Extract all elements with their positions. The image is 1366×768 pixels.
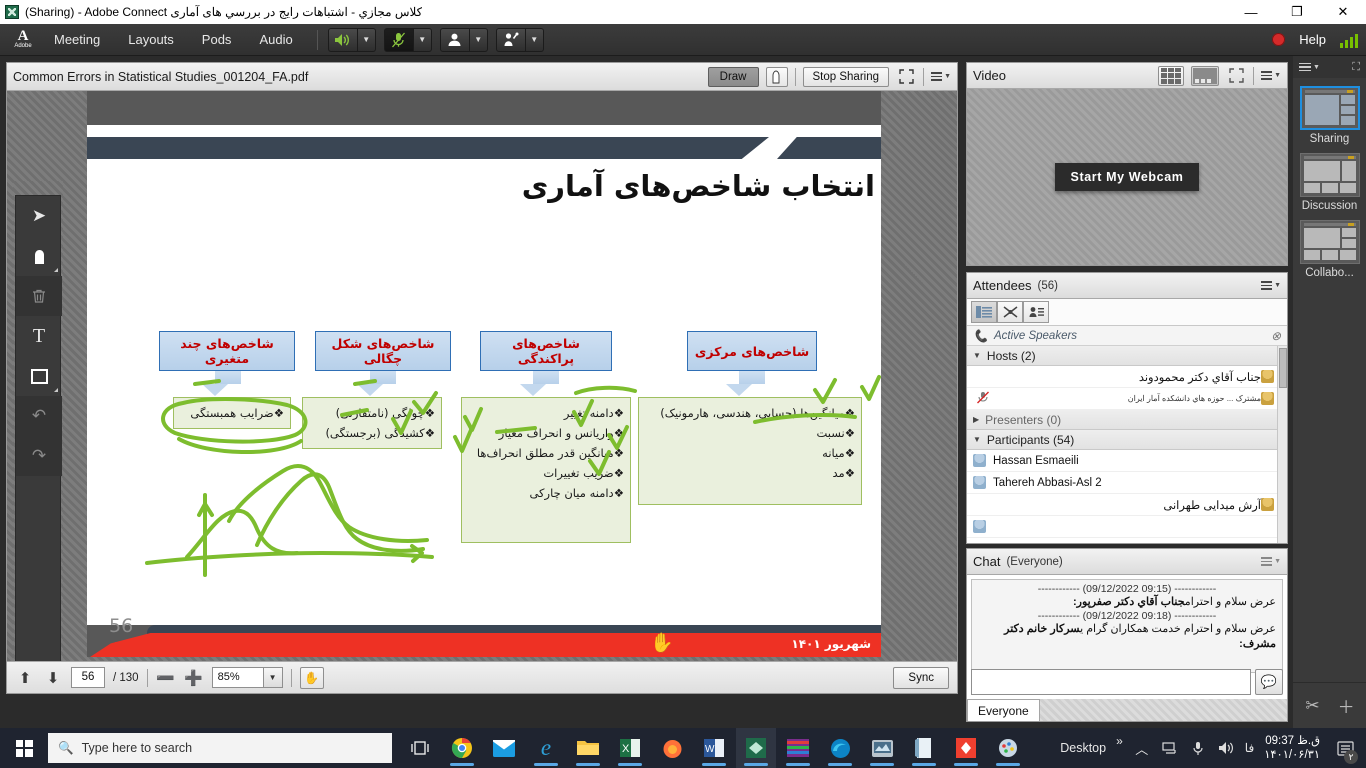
pan-cursor-icon: ✋ [650, 631, 674, 655]
thumb-bottom-row [1304, 183, 1356, 193]
svg-text:W: W [705, 744, 715, 755]
chat-input-row: 💬 [971, 669, 1283, 695]
person-icon[interactable] [440, 28, 470, 52]
grid-view-icon[interactable] [1158, 66, 1184, 86]
taskbar-firefox-icon[interactable] [652, 728, 692, 768]
stop-sharing-button[interactable]: Stop Sharing [803, 67, 890, 87]
attendees-pod-header: Attendees (56) ▼ [967, 273, 1287, 299]
video-pod: Video ▼ Start My Webcam [966, 62, 1288, 266]
microphone-control-group: ▼ [384, 28, 432, 52]
participant-avatar-icon [1261, 498, 1274, 511]
video-pod-options-icon[interactable]: ▼ [1261, 67, 1281, 85]
pod-options-icon[interactable]: ▼ [931, 68, 951, 86]
content-item: ❖کشیدگی (برجستگی) [309, 423, 435, 443]
slide-title: انتخاب شاخص‌های آماری [175, 169, 875, 203]
taskbar-chrome-icon[interactable] [442, 728, 482, 768]
content-item: ❖چولگی (نامتقارنی) [309, 403, 435, 423]
arrow-head-shape [357, 384, 383, 396]
notification-badge: ۲ [1344, 750, 1358, 764]
volume-icon[interactable] [1217, 739, 1235, 757]
chat-pod-title: Chat [973, 554, 1000, 569]
chat-pod: Chat (Everyone) ▼ ------------ (09/12/20… [966, 548, 1288, 722]
select-tool-icon[interactable]: ➤ [16, 196, 62, 236]
arrow-shape [370, 371, 396, 384]
layout-collaboration[interactable]: Collabo... [1300, 220, 1360, 279]
text-tool-icon[interactable]: T [16, 316, 62, 356]
participant-avatar-icon [973, 476, 986, 489]
raise-hand-icon[interactable] [496, 28, 526, 52]
content-item: ❖واریانس و انحراف معیار [468, 423, 624, 443]
layout-collaboration-label: Collabo... [1300, 267, 1360, 279]
attendee-status-icon[interactable] [1023, 301, 1049, 323]
task-view-icon[interactable] [400, 728, 440, 768]
layouts-bar-footer: ✂ ＋ [1293, 682, 1366, 728]
arrow-head-dispersion [520, 384, 546, 396]
document-navigation-toolbar: ⬆ ⬇ 56 / 130 ➖ ➕ 85% ▼ ✋ Sync [7, 661, 957, 693]
webcam-dropdown-arrow[interactable]: ▼ [470, 28, 488, 52]
layout-thumbnail-collaboration [1300, 220, 1360, 264]
pointer-tool-icon[interactable] [766, 67, 788, 87]
taskbar-mail-icon[interactable] [484, 728, 524, 768]
language-indicator[interactable]: فا [1245, 741, 1254, 755]
layouts-collapse-icon[interactable]: ⛶ [1352, 61, 1360, 74]
microphone-icon[interactable] [1189, 739, 1207, 757]
content-item: ❖نسبت [645, 423, 855, 443]
start-my-webcam-button[interactable]: Start My Webcam [1055, 163, 1200, 191]
thumb-side-area [1341, 95, 1355, 125]
content-item: ❖میانگین قدر مطلق انحراف‌ها [468, 443, 624, 463]
attendee-row[interactable]: Tahereh Abbasi-Asl 2 [967, 472, 1287, 494]
arrow-multivariate [215, 371, 241, 384]
arrow-central [739, 371, 765, 384]
add-layout-icon[interactable]: ＋ [1338, 693, 1355, 718]
active-speakers-label: Active Speakers [994, 330, 1077, 342]
host-avatar-icon [1261, 370, 1274, 383]
speaker-control-group: ▼ [328, 28, 376, 52]
slide-footer-date: شهریور ۱۴۰۱ [791, 637, 871, 651]
doc-toolbar-divider-2 [291, 669, 292, 687]
toolbar-divider [795, 68, 796, 86]
attendee-name: مشترک ... حوزه هاي دانشکده آمار ايران [1128, 394, 1261, 403]
slide-footer-red [87, 633, 881, 657]
redo-tool-icon[interactable]: ↷ [16, 436, 62, 476]
group-participants[interactable]: ▼ Participants (54) [967, 430, 1287, 450]
adobe-logo-letter: A [18, 30, 29, 43]
group-presenters-label: Presenters (0) [985, 413, 1061, 427]
chat-pod-header: Chat (Everyone) ▼ [967, 549, 1287, 575]
undo-tool-icon[interactable]: ↶ [16, 396, 62, 436]
category-box-dispersion: شاخص‌های پراکندگی [480, 331, 612, 371]
attendees-pod: Attendees (56) ▼ 📞 Active Speakers ⊗ [966, 272, 1288, 544]
content-box-multivariate: ❖ضرایب همبستگی [173, 397, 291, 429]
attendee-row[interactable]: مشترک ... حوزه هاي دانشکده آمار ايران [967, 388, 1287, 410]
active-speakers-row: 📞 Active Speakers ⊗ [967, 326, 1287, 346]
sync-button[interactable]: Sync [893, 667, 949, 689]
chat-message-sender: جناب آقاي دکتر صفرپور: [1073, 596, 1185, 608]
next-page-icon[interactable]: ⬇ [43, 667, 63, 689]
page-number-input[interactable]: 56 [71, 667, 105, 688]
tray-overflow-label[interactable]: » [1116, 734, 1123, 748]
attendee-row[interactable]: جناب آقاي دکتر محمودوند [967, 366, 1287, 388]
connection-strength-icon [1340, 32, 1358, 48]
slide-header-band-right [777, 137, 881, 159]
notification-center-icon[interactable]: ۲ [1330, 728, 1360, 768]
content-item: ❖ضریب تغییرات [468, 463, 624, 483]
microphone-muted-icon [977, 391, 989, 407]
page-total-label: / 130 [113, 672, 139, 684]
taskbar-adobe-connect-icon[interactable] [736, 728, 776, 768]
taskbar-notes-icon[interactable] [904, 728, 944, 768]
layout-discussion-label: Discussion [1300, 200, 1360, 212]
search-placeholder: Type here to search [82, 741, 192, 755]
group-participants-label: Participants (54) [987, 433, 1074, 447]
taskbar-edge-icon[interactable] [820, 728, 860, 768]
breakout-view-icon[interactable] [997, 301, 1023, 323]
content-box-shape: ❖چولگی (نامتقارنی) ❖کشیدگی (برجستگی) [302, 397, 442, 449]
toolbar-divider-2 [923, 68, 924, 86]
layout-sharing[interactable]: Sharing [1300, 86, 1360, 145]
desktop-label[interactable]: Desktop [1060, 741, 1106, 755]
zoom-level-select[interactable]: 85% ▼ [212, 667, 283, 688]
window-controls: — ❐ ✕ [1228, 0, 1366, 24]
thumb-main-area [1304, 228, 1340, 248]
layouts-bar-header: ▼ ⛶ [1293, 56, 1366, 78]
video-pod-body: Start My Webcam [967, 89, 1287, 265]
chat-message: عرض سلام و احترام خدمت همکاران گرام یسرک… [978, 622, 1276, 652]
application-menu-bar: A Adobe Meeting Layouts Pods Audio ▼ ▼ ▼ [0, 24, 1366, 56]
taskbar-paint-icon[interactable] [988, 728, 1028, 768]
delete-tool-icon[interactable] [16, 276, 62, 316]
speaker-icon[interactable] [328, 28, 358, 52]
group-presenters[interactable]: ▶ Presenters (0) [967, 410, 1287, 430]
windows-taskbar: 🔍 Type here to search e X [0, 728, 1366, 768]
shape-tool-icon[interactable] [16, 356, 62, 396]
thumb-side-area [1342, 161, 1356, 181]
share-pod: Common Errors in Statistical Studies_001… [6, 62, 958, 694]
layout-settings-icon[interactable]: ✂ [1305, 696, 1319, 716]
window-title: (Sharing) - Adobe Connect کلاس مجازي - ا… [25, 5, 422, 19]
slide-page-number: 56 [109, 615, 133, 637]
raise-hand-control-group: ▼ [496, 28, 544, 52]
menu-meeting[interactable]: Meeting [40, 28, 114, 51]
content-item: ❖مد [645, 463, 855, 483]
speaker-dropdown-arrow[interactable]: ▼ [358, 28, 376, 52]
drawing-tools-rail: ➤ T ↶ ↷ [13, 181, 63, 661]
chat-message-body: عرض سلام و احترام خدمت همکاران گرام ی [1080, 623, 1276, 635]
pan-tool-button[interactable]: ✋ [300, 667, 324, 689]
zoom-level-value: 85% [213, 668, 263, 687]
attendee-name: جناب آقاي دکتر محمودوند [1139, 370, 1261, 384]
menu-divider [317, 30, 318, 50]
window-title-bar: (Sharing) - Adobe Connect کلاس مجازي - ا… [0, 0, 1366, 24]
clock-date: ۱۴۰۱/۰۶/۳۱ [1264, 748, 1320, 762]
thumb-main-area [1305, 95, 1339, 125]
arrow-head-central [726, 384, 752, 396]
layout-thumbnail-sharing [1300, 86, 1360, 130]
layout-sharing-label: Sharing [1300, 133, 1360, 145]
windows-logo-icon [16, 740, 33, 757]
clock-time: 09:37 ق.ظ [1264, 734, 1320, 748]
taskbar-winrar-icon[interactable] [778, 728, 818, 768]
content-box-central: ❖میانگین‌ها (حسابی، هندسی، هارمونیک) ❖نس… [638, 397, 862, 505]
chat-tab-everyone[interactable]: Everyone [967, 699, 1040, 721]
pen-tool-icon[interactable] [16, 236, 62, 276]
attendees-scrollbar[interactable] [1277, 346, 1287, 543]
thumb-titlebar [1305, 90, 1355, 93]
taskbar-excel-icon[interactable]: X [610, 728, 650, 768]
chat-pod-options-icon[interactable]: ▼ [1261, 553, 1281, 571]
microphone-muted-icon[interactable] [384, 28, 414, 52]
search-icon: 🔍 [58, 741, 74, 756]
thumb-titlebar [1304, 156, 1356, 159]
shared-document-title: Common Errors in Statistical Studies_001… [13, 70, 308, 84]
microphone-dropdown-arrow[interactable]: ▼ [414, 28, 432, 52]
network-icon[interactable] [1161, 739, 1179, 757]
chevron-down-icon[interactable]: ▼ [263, 668, 282, 687]
category-box-multivariate: شاخص‌های چند متغیری [159, 331, 295, 371]
category-box-central: شاخص‌های مرکزی [687, 331, 817, 371]
document-stage[interactable]: ➤ T ↶ ↷ [7, 91, 957, 661]
chat-timestamp-separator: ------------ (09/12/2022 09:15) --------… [978, 583, 1276, 595]
layout-discussion[interactable]: Discussion [1300, 153, 1360, 212]
menu-pods[interactable]: Pods [188, 28, 246, 51]
layout-thumbnail-discussion [1300, 153, 1360, 197]
content-item: ❖میانه [645, 443, 855, 463]
video-pod-header: Video ▼ [967, 63, 1287, 89]
menu-audio[interactable]: Audio [245, 28, 306, 51]
chevron-down-icon: ▼ [973, 351, 981, 360]
attendee-row[interactable]: Hassan Esmaeili [967, 450, 1287, 472]
zoom-out-icon[interactable]: ➖ [156, 667, 176, 689]
attendee-name: آرش میدایی طهرانی [1163, 498, 1261, 512]
video-pod-title: Video [973, 68, 1006, 83]
category-box-shape: شاخص‌های شکل چگالی [315, 331, 451, 371]
attendees-pod-options-icon[interactable]: ▼ [1261, 277, 1281, 295]
attendees-list[interactable]: ▼ Hosts (2) جناب آقاي دکتر محمودوند مشتر… [967, 346, 1287, 543]
adobe-connect-window: (Sharing) - Adobe Connect کلاس مجازي - ا… [0, 0, 1366, 768]
participant-avatar-icon [973, 520, 986, 533]
start-button[interactable] [0, 728, 48, 768]
thumb-main-area [1304, 161, 1340, 181]
group-hosts[interactable]: ▼ Hosts (2) [967, 346, 1287, 366]
zoom-in-icon[interactable]: ➕ [184, 667, 204, 689]
chat-message: عرض سلام و احترامجناب آقاي دکتر صفرپور: [978, 595, 1276, 610]
phone-icon: 📞 [973, 329, 988, 343]
slide-canvas[interactable]: انتخاب شاخص‌های آماری شاخص‌های مرکزی شاخ… [87, 91, 881, 657]
draw-button[interactable]: Draw [708, 67, 759, 87]
host-avatar-icon [1261, 392, 1274, 405]
participant-avatar-icon [973, 454, 986, 467]
adobe-logo-icon: A Adobe [6, 25, 40, 55]
arrow-head-multivariate [202, 384, 228, 396]
adobe-logo-word: Adobe [14, 43, 31, 50]
taskbar-apps: e X W [400, 728, 1028, 768]
minimize-button[interactable]: — [1228, 0, 1274, 24]
close-button[interactable]: ✕ [1320, 0, 1366, 24]
thumb-side-area [1342, 228, 1356, 248]
content-item: ❖ضرایب همبستگی [180, 403, 284, 423]
slide-page: انتخاب شاخص‌های آماری شاخص‌های مرکزی شاخ… [87, 125, 881, 625]
taskbar-word-icon[interactable]: W [694, 728, 734, 768]
arrow-dispersion [533, 371, 559, 384]
layouts-options-icon[interactable]: ▼ [1299, 63, 1320, 72]
taskbar-search[interactable]: 🔍 Type here to search [48, 733, 392, 763]
system-tray: Desktop » ︿ فا 09:37 ق.ظ ۱۴۰۱/۰۶/۳۱ ۲ [1060, 728, 1366, 768]
content-item: ❖دامنه میان چارکی [468, 483, 624, 503]
list-view-icon[interactable] [971, 301, 997, 323]
chat-message-list[interactable]: ------------ (09/12/2022 09:15) --------… [971, 579, 1283, 673]
thumb-bottom-row [1304, 250, 1356, 260]
taskbar-idm-icon[interactable] [946, 728, 986, 768]
content-item: ❖دامنه تغییر [468, 403, 624, 423]
attendee-name: Tahereh Abbasi-Asl 2 [993, 477, 1102, 489]
drawing-tools-panel: ➤ T ↶ ↷ [15, 195, 61, 661]
layouts-bar: ▼ ⛶ Sharing Discussion [1292, 56, 1366, 728]
share-pod-header: Common Errors in Statistical Studies_001… [7, 63, 957, 91]
raise-hand-dropdown-arrow[interactable]: ▼ [526, 28, 544, 52]
taskbar-internet-explorer-icon[interactable]: e [526, 728, 566, 768]
help-menu[interactable]: Help [1299, 32, 1326, 47]
close-icon[interactable]: ⊗ [1271, 329, 1281, 343]
attendees-view-toolbar [967, 299, 1287, 326]
chat-input[interactable] [971, 669, 1251, 695]
content-box-dispersion: ❖دامنه تغییر ❖واریانس و انحراف معیار ❖می… [461, 397, 631, 543]
single-view-icon[interactable] [1191, 66, 1219, 86]
app-icon [5, 5, 19, 19]
chat-timestamp-separator: ------------ (09/12/2022 09:18) --------… [978, 610, 1276, 622]
attendees-count: (56) [1038, 280, 1058, 292]
maximize-button[interactable]: ❐ [1274, 0, 1320, 24]
chevron-right-icon: ▶ [973, 415, 979, 424]
svg-text:X: X [622, 743, 630, 755]
previous-page-icon[interactable]: ⬆ [15, 667, 35, 689]
doc-toolbar-divider [147, 669, 148, 687]
send-message-icon[interactable]: 💬 [1255, 669, 1283, 695]
taskbar-monitor-app-icon[interactable] [862, 728, 902, 768]
fullscreen-icon[interactable] [896, 68, 916, 86]
webcam-control-group: ▼ [440, 28, 488, 52]
attendees-pod-title: Attendees [973, 278, 1032, 293]
group-hosts-label: Hosts (2) [987, 349, 1036, 363]
video-header-divider [1253, 67, 1254, 85]
taskbar-file-explorer-icon[interactable] [568, 728, 608, 768]
menu-layouts[interactable]: Layouts [114, 28, 188, 51]
attendee-name: Hassan Esmaeili [993, 455, 1079, 467]
slide-header-band [87, 137, 769, 159]
chevron-down-icon: ▼ [973, 435, 981, 444]
thumb-titlebar [1304, 223, 1356, 226]
content-item: ❖میانگین‌ها (حسابی، هندسی، هارمونیک) [645, 403, 855, 423]
chat-message-body: عرض سلام و احترام [1185, 596, 1276, 608]
chat-scope-label: (Everyone) [1006, 556, 1062, 568]
video-fullscreen-icon[interactable] [1226, 67, 1246, 85]
attendee-row[interactable] [967, 516, 1287, 538]
recording-indicator-icon [1272, 33, 1285, 46]
chat-tabs: Everyone [967, 699, 1287, 721]
chevron-up-icon[interactable]: ︿ [1133, 739, 1151, 757]
attendee-row[interactable]: آرش میدایی طهرانی [967, 494, 1287, 516]
taskbar-clock[interactable]: 09:37 ق.ظ ۱۴۰۱/۰۶/۳۱ [1264, 734, 1320, 762]
